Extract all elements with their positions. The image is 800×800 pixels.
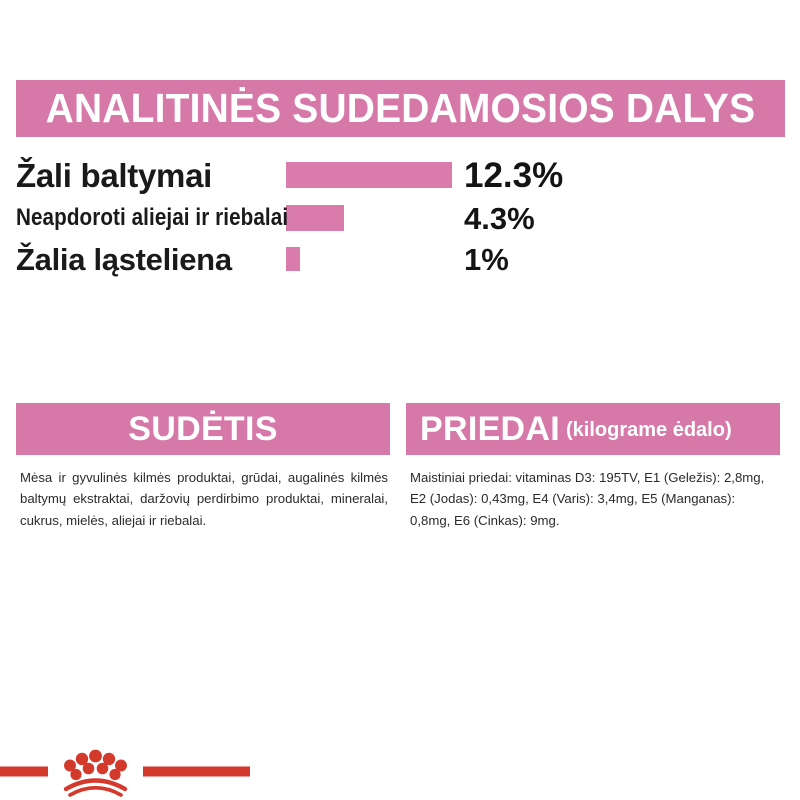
chart-row-value: 12.3% [456, 158, 563, 193]
chart-bar-track [286, 205, 456, 231]
chart-row-label: Žalia ląsteliena [16, 244, 286, 275]
chart-row: Žalia ląsteliena 1% [16, 238, 785, 280]
panel-title: PRIEDAI [420, 412, 560, 446]
chart-row: Žali baltymai 12.3% [16, 152, 785, 198]
chart-bar [286, 247, 300, 271]
analytical-constituents-banner: ANALITINĖS SUDEDAMOSIOS DALYS [16, 80, 785, 137]
panel-header: PRIEDAI (kilograme ėdalo) [406, 403, 780, 455]
chart-bar [286, 205, 344, 231]
chart-row-value: 1% [456, 244, 509, 275]
royal-canin-crown-logo [0, 744, 250, 800]
chart-row: Neapdoroti aliejai ir riebalai 4.3% [16, 198, 785, 238]
chart-bar-track [286, 247, 456, 271]
chart-row-label: Žali baltymai [16, 159, 286, 192]
panel-subtitle: (kilograme ėdalo) [566, 420, 732, 440]
banner-title: ANALITINĖS SUDEDAMOSIOS DALYS [46, 88, 756, 129]
chart-row-label: Neapdoroti aliejai ir riebalai [16, 206, 248, 230]
chart-bar-track [286, 162, 456, 188]
panel-composition: SUDĖTIS Mėsa ir gyvulinės kilmės produkt… [16, 403, 390, 531]
analytical-constituents-chart: Žali baltymai 12.3% Neapdoroti aliejai i… [16, 152, 785, 280]
panel-body-text: Mėsa ir gyvulinės kilmės produktai, grūd… [16, 455, 390, 531]
panel-title: SUDĖTIS [128, 412, 277, 446]
panel-body-text: Maistiniai priedai: vitaminas D3: 195TV,… [406, 455, 780, 531]
chart-bar [286, 162, 452, 188]
crown-icon [0, 744, 250, 800]
panel-additives: PRIEDAI (kilograme ėdalo) Maistiniai pri… [406, 403, 780, 531]
panel-header: SUDĖTIS [16, 403, 390, 455]
info-panels: SUDĖTIS Mėsa ir gyvulinės kilmės produkt… [16, 403, 785, 531]
chart-row-value: 4.3% [456, 203, 535, 234]
